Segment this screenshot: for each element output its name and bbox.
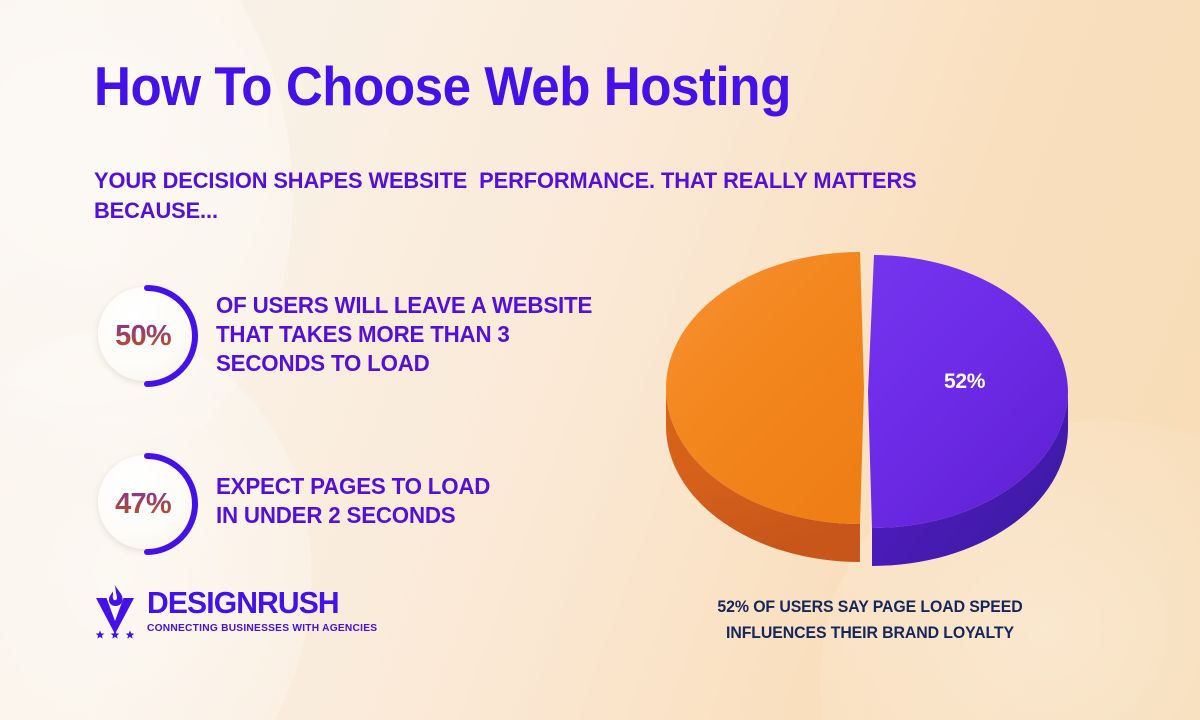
pie-slice-load-speed [868,255,1068,566]
logo-wordmark: DESIGNRUSH CONNECTING BUSINESSES WITH AG… [147,583,380,634]
pie-slice-label: 52% [944,370,986,393]
designrush-logo: DESIGNRUSH CONNECTING BUSINESSES WITH AG… [92,583,380,639]
stat-value: 47% [94,451,192,557]
stat-item: 50% OF USERS WILL LEAVE A WEBSITE THAT T… [94,283,674,389]
designrush-flame-logo-icon [92,583,138,639]
stat-badge: 50% [94,283,200,389]
stat-description: OF USERS WILL LEAVE A WEBSITE THAT TAKES… [216,283,660,378]
infographic-canvas: How To Choose Web Hosting YOUR DECISION … [0,0,1200,720]
stat-badge: 47% [94,451,200,557]
logo-tagline: CONNECTING BUSINESSES WITH AGENCIES [147,624,377,634]
pie-chart-svg: 52% [650,228,1090,588]
logo-name: DESIGNRUSH [147,587,373,618]
chart-caption: 52% OF USERS SAY PAGE LOAD SPEED INFLUEN… [654,594,1085,646]
pie-chart: 52% [650,228,1090,588]
pie-slice-other [666,252,864,562]
page-subtitle: YOUR DECISION SHAPES WEBSITE PERFORMANCE… [94,166,928,226]
stat-value: 50% [94,283,192,389]
stat-description: EXPECT PAGES TO LOAD IN UNDER 2 SECONDS [216,451,660,530]
stat-list: 50% OF USERS WILL LEAVE A WEBSITE THAT T… [94,283,674,557]
stat-item: 47% EXPECT PAGES TO LOAD IN UNDER 2 SECO… [94,451,674,557]
page-title: How To Choose Web Hosting [94,58,791,116]
